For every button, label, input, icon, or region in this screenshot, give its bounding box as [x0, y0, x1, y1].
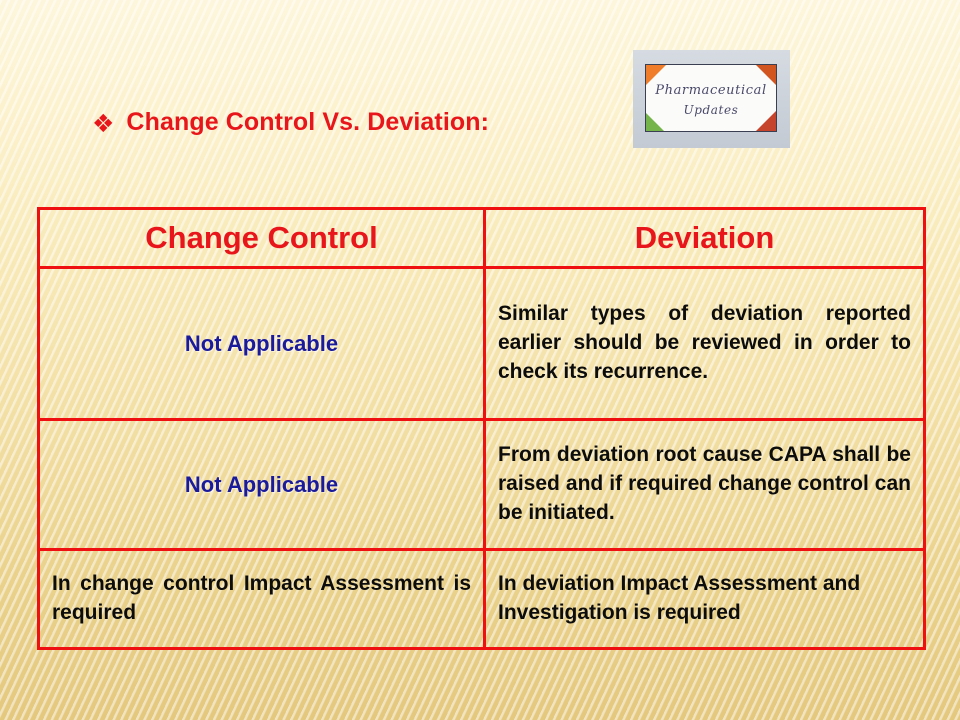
logo-card: Pharmaceutical Updates — [645, 64, 777, 132]
table-header-deviation-label: Deviation — [486, 222, 923, 255]
table-header-deviation: Deviation — [485, 209, 925, 268]
corner-triangle-top-right-icon — [756, 65, 776, 85]
table-row: Not Applicable Similar types of deviatio… — [39, 268, 925, 420]
table-row: Not Applicable From deviation root cause… — [39, 420, 925, 550]
change-control-vs-deviation-table: Change Control Deviation Not Applicable … — [37, 207, 926, 650]
not-applicable-label: Not Applicable — [40, 331, 483, 356]
deviation-text-1: Similar types of deviation reported earl… — [486, 294, 923, 392]
page-title: Change Control Vs. Deviation: — [126, 108, 489, 137]
slide-title-row: ❖ Change Control Vs. Deviation: — [92, 108, 489, 137]
table-header-change-control: Change Control — [39, 209, 485, 268]
table-cell-deviation-3: In deviation Impact Assessment and Inves… — [485, 550, 925, 649]
slide-canvas: ❖ Change Control Vs. Deviation: Pharmace… — [0, 0, 960, 720]
logo-text-line-2: Updates — [646, 103, 776, 117]
deviation-text-3: In deviation Impact Assessment and Inves… — [486, 564, 923, 634]
table-row: In change control Impact Assessment is r… — [39, 550, 925, 649]
diamond-bullet-icon: ❖ — [92, 111, 114, 136]
pharmaceutical-updates-logo-image: Pharmaceutical Updates — [633, 50, 790, 148]
table-cell-deviation-2: From deviation root cause CAPA shall be … — [485, 420, 925, 550]
table-cell-deviation-1: Similar types of deviation reported earl… — [485, 268, 925, 420]
logo-text-line-1: Pharmaceutical — [646, 83, 776, 98]
not-applicable-label: Not Applicable — [40, 472, 483, 497]
change-control-text-3: In change control Impact Assessment is r… — [40, 564, 483, 634]
table-cell-change-control-2: Not Applicable — [39, 420, 485, 550]
table-header-row: Change Control Deviation — [39, 209, 925, 268]
table-header-change-control-label: Change Control — [40, 222, 483, 255]
table-cell-change-control-3: In change control Impact Assessment is r… — [39, 550, 485, 649]
corner-triangle-top-left-icon — [646, 65, 666, 85]
table-cell-change-control-1: Not Applicable — [39, 268, 485, 420]
deviation-text-2: From deviation root cause CAPA shall be … — [486, 435, 923, 533]
